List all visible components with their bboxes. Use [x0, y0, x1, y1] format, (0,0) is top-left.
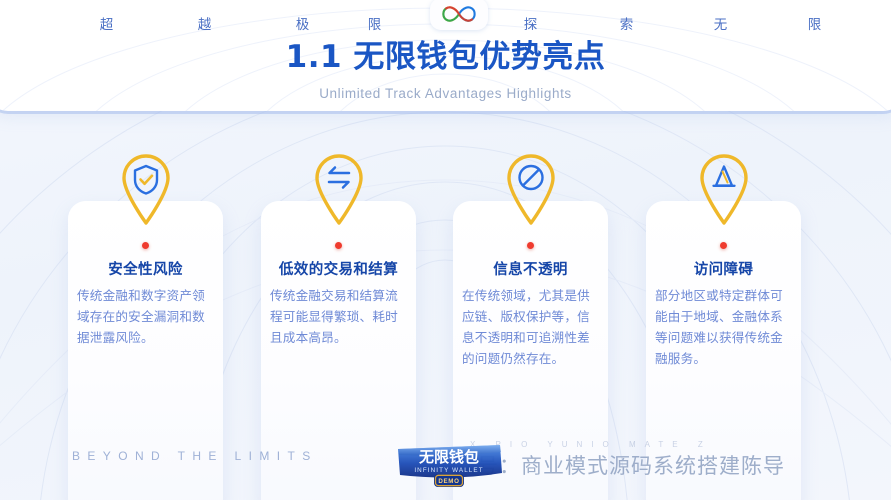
card-body: 传统金融和数字资产领域存在的安全漏洞和数据泄露风险。	[77, 285, 214, 348]
cards-container: 安全性风险 传统金融和数字资产领域存在的安全漏洞和数据泄露风险。 低效的交易和结…	[0, 118, 891, 418]
badge-cn-label: 无限钱包	[418, 448, 479, 466]
tagline-char-0: 超	[92, 13, 122, 33]
card-bullet-dot	[720, 242, 727, 249]
card-bullet-dot	[527, 242, 534, 249]
card-title: 低效的交易和结算	[261, 258, 416, 279]
infinity-logo	[430, 0, 488, 30]
card-bullet-dot	[335, 242, 342, 249]
shield-check-icon	[116, 149, 176, 227]
infinity-wallet-badge-icon: 无限钱包 INFINITY WALLET DEMO	[390, 439, 510, 495]
infinity-wallet-badge: 无限钱包 INFINITY WALLET DEMO	[390, 439, 510, 495]
page-subtitle: Unlimited Track Advantages Highlights	[0, 86, 891, 101]
badge-demo-label: DEMO	[438, 478, 459, 485]
infinity-logo-icon	[439, 3, 479, 25]
tagline-char-6: 无	[706, 13, 736, 33]
prohibited-circle-icon	[501, 149, 561, 227]
header-panel: 超 越 极 限 探 索 无 限	[0, 0, 891, 111]
traffic-cone-icon	[694, 149, 754, 227]
card-title: 访问障碍	[646, 258, 801, 279]
slide-root: 超 越 极 限 探 索 无 限	[0, 0, 891, 500]
watermark-text: 众号：商业模式源码系统搭建陈导	[455, 450, 891, 480]
card-title: 信息不透明	[453, 258, 608, 279]
footer-tagline: BEYOND THE LIMITS	[72, 449, 318, 463]
card-body: 在传统领域，尤其是供应链、版权保护等，信息不透明和可追溯性差的问题仍然存在。	[462, 285, 599, 369]
card-bullet-dot	[142, 242, 149, 249]
card-title: 安全性风险	[68, 258, 223, 279]
card-body: 传统金融交易和结算流程可能显得繁琐、耗时且成本高昂。	[270, 285, 407, 348]
badge-en-label: INFINITY WALLET	[414, 467, 483, 474]
page-title: 1.1 无限钱包优势亮点	[0, 42, 891, 73]
card-body: 部分地区或特定群体可能由于地域、金融体系等问题难以获得传统金融服务。	[655, 285, 792, 369]
tagline-char-4: 探	[516, 13, 546, 33]
footer: BEYOND THE LIMITS X PIO YUNIO MATE Z 众号：…	[0, 438, 891, 500]
tagline-char-1: 越	[190, 13, 220, 33]
tagline-char-7: 限	[800, 13, 830, 33]
exchange-arrows-icon	[309, 149, 369, 227]
tagline-char-2: 极	[288, 13, 318, 33]
tagline-char-3: 限	[360, 13, 390, 33]
tagline-char-5: 索	[612, 13, 642, 33]
